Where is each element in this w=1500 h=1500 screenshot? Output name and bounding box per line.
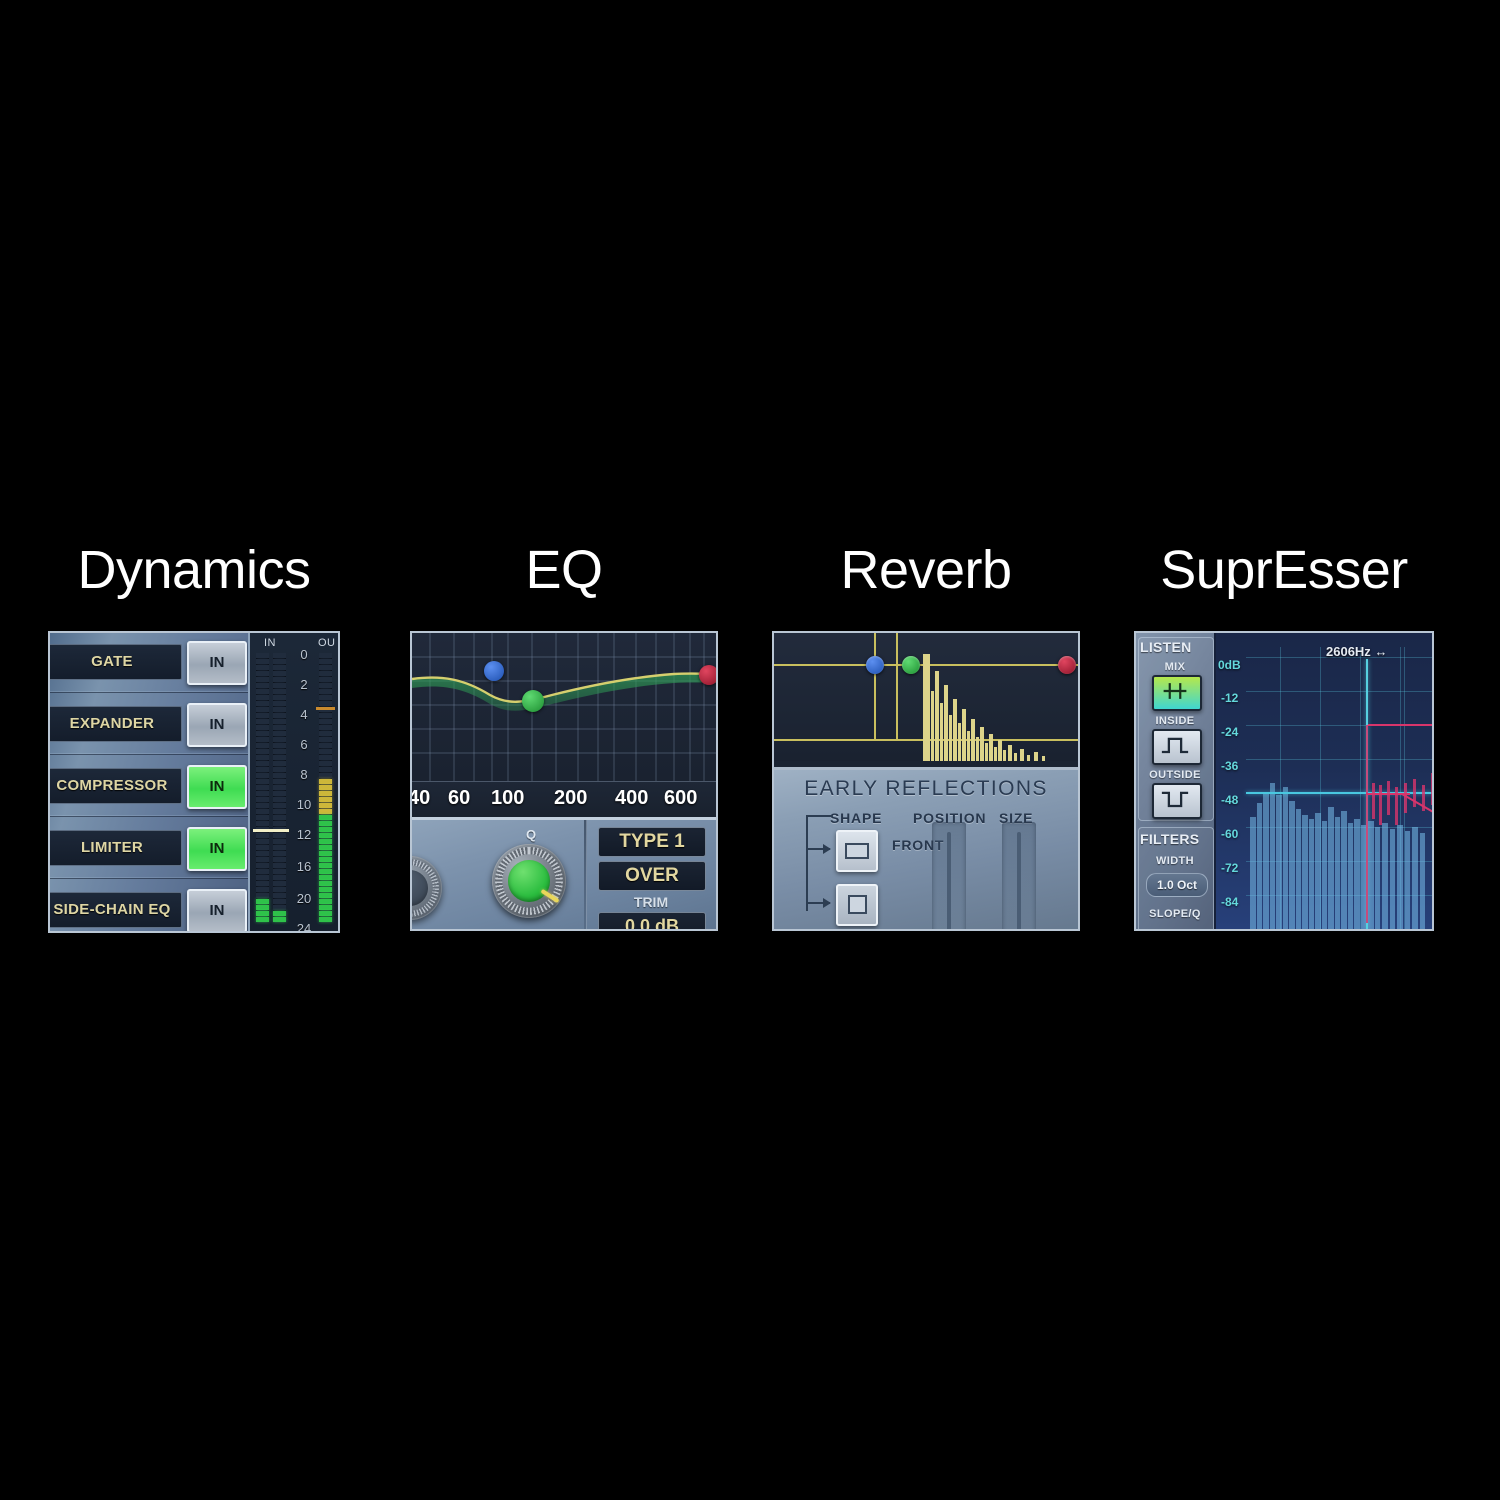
db-label-12: -12 <box>1221 691 1238 705</box>
meter-segment <box>256 701 269 706</box>
reverb-handle-red[interactable] <box>1058 656 1076 674</box>
left-right-arrow-icon: ↔ <box>1374 644 1387 659</box>
meter-segment <box>273 821 286 826</box>
spectrum-bar <box>1315 813 1321 929</box>
meter-segment <box>256 761 269 766</box>
meter-segment <box>319 791 332 796</box>
meter-segment <box>256 731 269 736</box>
meter-segment <box>256 779 269 784</box>
meter-segment <box>319 653 332 658</box>
size-slider[interactable] <box>1002 822 1036 931</box>
eq-curve-svg <box>412 633 718 781</box>
meter-segment <box>273 809 286 814</box>
plus-crosshair-icon <box>1154 677 1196 705</box>
meter-segment <box>256 917 269 922</box>
square-icon <box>848 895 867 914</box>
eq-type-readout[interactable]: TYPE 1 <box>598 827 706 857</box>
db-label-84: -84 <box>1221 895 1238 909</box>
meter-segment <box>273 665 286 670</box>
knob-cap <box>508 860 549 901</box>
meter-segment <box>319 815 332 820</box>
meter-in-right <box>273 653 286 921</box>
listen-option-label-inside: INSIDE <box>1136 715 1214 727</box>
impulse-bar <box>944 685 948 761</box>
spectrum-bar <box>1341 811 1347 929</box>
meter-segment <box>273 701 286 706</box>
listen-button-outside[interactable] <box>1152 783 1202 819</box>
eq-gain-knob-left[interactable] <box>410 856 442 920</box>
meter-segment <box>273 905 286 910</box>
panel-title-reverb: Reverb <box>772 535 1080 607</box>
supresser-thumbnail[interactable]: LISTEN MIX INSIDE <box>1134 631 1434 931</box>
reverb-surface: EARLY REFLECTIONS SHAPE POSITION SIZE <box>774 633 1078 929</box>
eq-band-handle-blue[interactable] <box>484 661 504 681</box>
meter-segment <box>273 785 286 790</box>
meter-segment <box>256 845 269 850</box>
meter-segment <box>319 803 332 808</box>
meter-segment <box>256 887 269 892</box>
dynamics-row-limiter[interactable]: LIMITER IN <box>50 815 256 879</box>
spectrum-bar <box>1348 823 1353 929</box>
meter-segment <box>319 875 332 880</box>
spectrum-bar <box>1405 831 1410 929</box>
spectrum-bar <box>1328 807 1334 929</box>
meter-segment <box>256 737 269 742</box>
spectrum-bar <box>1257 803 1262 929</box>
meter-segment <box>273 797 286 802</box>
meter-segment <box>273 749 286 754</box>
reverb-predelay-marker <box>874 633 876 741</box>
impulse-bar <box>923 654 930 761</box>
reverb-early-reflections-section: EARLY REFLECTIONS SHAPE POSITION SIZE <box>774 767 1078 929</box>
meter-segment <box>256 833 269 838</box>
reduction-curve-cursor <box>1366 725 1368 923</box>
meter-segment <box>273 779 286 784</box>
impulse-bar <box>935 671 939 761</box>
meter-segment <box>256 689 269 694</box>
meter-segment <box>256 797 269 802</box>
meter-segment <box>319 833 332 838</box>
panel-reverb: Reverb <box>772 535 1080 931</box>
impulse-bar <box>985 743 988 761</box>
impulse-bar <box>1008 745 1012 761</box>
meter-segment <box>256 713 269 718</box>
filters-group-label: FILTERS <box>1140 831 1218 847</box>
spectrum-bar <box>1270 783 1275 929</box>
meter-segment <box>256 749 269 754</box>
module-label-compressor: COMPRESSOR <box>48 768 182 804</box>
in-button-sidechain-eq[interactable]: IN <box>187 889 247 933</box>
meter-segment <box>273 767 286 772</box>
meter-segment <box>319 779 332 784</box>
meter-segment <box>273 815 286 820</box>
reverb-thumbnail[interactable]: EARLY REFLECTIONS SHAPE POSITION SIZE <box>772 631 1080 931</box>
meter-segment <box>256 659 269 664</box>
dynamics-row-gate[interactable]: GATE IN <box>50 631 256 693</box>
listen-group-label: LISTEN <box>1140 639 1218 655</box>
dynamics-meter-bridge: IN OU 0 2 4 6 8 10 12 16 20 24 <box>248 633 338 931</box>
spectrum-bar <box>1420 833 1425 929</box>
reduction-spike <box>1431 773 1432 805</box>
meter-segment <box>256 671 269 676</box>
meter-segment <box>256 791 269 796</box>
meter-segment <box>273 731 286 736</box>
meter-segment <box>256 683 269 688</box>
impulse-bar <box>1020 749 1024 761</box>
dynamics-thumbnail[interactable]: GATE IN EXPANDER IN COMPRESSOR IN L <box>48 631 340 933</box>
meter-segment <box>256 881 269 886</box>
meter-segment <box>273 743 286 748</box>
size-slider-handle[interactable] <box>1017 832 1021 931</box>
panel-supresser: SuprEsser LISTEN MIX <box>1134 535 1434 931</box>
eq-tick-200: 200 <box>554 787 587 810</box>
meter-header-in: IN <box>264 637 276 649</box>
meter-segment <box>273 653 286 658</box>
impulse-bar <box>971 719 975 761</box>
meter-segment <box>273 851 286 856</box>
reduction-spike <box>1422 785 1425 811</box>
meter-segment <box>273 917 286 922</box>
column-label-shape: SHAPE <box>830 810 882 826</box>
meter-segment <box>256 815 269 820</box>
spectrum-bar <box>1289 801 1295 929</box>
db-label-36: -36 <box>1221 759 1238 773</box>
meter-segment <box>319 821 332 826</box>
eq-trim-value[interactable]: 0.0 dB <box>598 912 706 931</box>
eq-q-knob[interactable] <box>492 844 566 918</box>
meter-segment <box>256 839 269 844</box>
meter-segment <box>319 797 332 802</box>
module-label-sidechain-eq: SIDE-CHAIN EQ <box>48 892 182 928</box>
meter-tick-20: 20 <box>292 891 316 906</box>
meter-segment <box>319 659 332 664</box>
spectrum-bar <box>1354 819 1360 929</box>
meter-segment <box>273 725 286 730</box>
meter-segment <box>273 677 286 682</box>
meter-scale: 0 2 4 6 8 10 12 16 20 24 <box>292 647 316 915</box>
impulse-bar <box>949 715 952 761</box>
meter-segment <box>319 839 332 844</box>
meter-segment <box>256 743 269 748</box>
supresser-surface: LISTEN MIX INSIDE <box>1136 633 1432 929</box>
eq-tick-100: 100 <box>491 787 524 810</box>
in-button-gate[interactable]: IN <box>187 641 247 685</box>
meter-segment <box>319 911 332 916</box>
spectrum-bar <box>1368 821 1374 929</box>
meter-segment <box>273 803 286 808</box>
reduction-spike <box>1387 781 1390 815</box>
meter-segment <box>256 719 269 724</box>
eq-band-handle-red[interactable] <box>699 665 718 685</box>
meter-segment <box>256 707 269 712</box>
wide-rectangle-icon <box>845 843 869 859</box>
eq-q-label: Q <box>526 827 536 842</box>
meter-segment <box>273 791 286 796</box>
meter-segment <box>319 899 332 904</box>
meter-segment <box>273 671 286 676</box>
db-label-48: -48 <box>1221 793 1238 807</box>
position-slider-handle[interactable] <box>947 832 951 931</box>
meter-segment <box>273 881 286 886</box>
dynamics-row-sidechain-eq[interactable]: SIDE-CHAIN EQ IN <box>50 877 256 933</box>
peak-hold-in-right <box>270 829 289 832</box>
meter-segment <box>319 905 332 910</box>
reverb-handle-blue[interactable] <box>866 656 884 674</box>
spectrum-bar <box>1382 823 1388 929</box>
plugin-showcase: Dynamics GATE IN EXPANDER IN COMPRE <box>0 535 1500 945</box>
db-label-24: -24 <box>1221 725 1238 739</box>
dynamics-module-list: GATE IN EXPANDER IN COMPRESSOR IN L <box>50 633 256 931</box>
impulse-bar <box>976 737 979 761</box>
meter-segment <box>256 677 269 682</box>
meter-segment <box>273 893 286 898</box>
meter-segment <box>273 887 286 892</box>
impulse-bar <box>931 691 934 761</box>
meter-tick-10: 10 <box>292 797 316 812</box>
eq-control-strip: Q <box>412 817 716 929</box>
meter-segment <box>319 743 332 748</box>
eq-tick-40: 40 <box>410 787 430 810</box>
meter-segment <box>273 737 286 742</box>
impulse-bar <box>989 734 993 761</box>
impulse-bar <box>940 703 943 761</box>
meter-segment <box>273 659 286 664</box>
meter-segment <box>319 701 332 706</box>
spectrum-bar <box>1309 819 1314 929</box>
screenshot-root: Dynamics GATE IN EXPANDER IN COMPRE <box>0 0 1500 1500</box>
spectrum-bar <box>1412 827 1418 929</box>
reduction-spike <box>1395 787 1398 825</box>
spectrum-bar <box>1276 795 1282 929</box>
in-button-limiter[interactable]: IN <box>187 827 247 871</box>
meter-segment <box>319 749 332 754</box>
reduction-spike <box>1372 783 1375 819</box>
meter-segment <box>273 875 286 880</box>
supresser-spectrum-graph[interactable]: 2606Hz ↔ 0dB -12 -24 -36 -48 -60 -72 -84 <box>1216 633 1432 929</box>
meter-segment <box>256 653 269 658</box>
spectrum-bar <box>1397 825 1403 929</box>
meter-segment <box>256 785 269 790</box>
in-button-expander[interactable]: IN <box>187 703 247 747</box>
db-label-60: -60 <box>1221 827 1238 841</box>
shape-button-wide[interactable] <box>836 830 878 872</box>
meter-segment <box>273 773 286 778</box>
reverb-impulse-graph[interactable] <box>774 633 1078 761</box>
panel-eq: EQ <box>410 535 718 931</box>
meter-segment <box>256 905 269 910</box>
shape-bracket <box>806 815 832 911</box>
meter-segment <box>319 827 332 832</box>
impulse-bar <box>1027 755 1030 761</box>
meter-segment <box>319 719 332 724</box>
impulse-bar <box>962 709 966 761</box>
eq-tick-600: 600 <box>664 787 697 810</box>
spectrum-bar <box>1263 793 1269 929</box>
meter-segment <box>273 899 286 904</box>
reverb-region-marker <box>896 633 898 741</box>
impulse-bar <box>1042 756 1045 761</box>
dynamics-row-compressor[interactable]: COMPRESSOR IN <box>50 753 256 817</box>
eq-band-handle-green[interactable] <box>522 690 544 712</box>
meter-segment <box>273 755 286 760</box>
meter-tick-4: 4 <box>292 707 316 722</box>
shape-button-active-indicator[interactable] <box>836 930 876 931</box>
db-label-72: -72 <box>1221 861 1238 875</box>
meter-header-out: OU <box>318 637 335 649</box>
meter-in-left <box>256 653 269 921</box>
meter-segment <box>319 851 332 856</box>
peak-hold-out <box>316 707 335 710</box>
impulse-bar <box>967 731 970 761</box>
meter-segment <box>256 821 269 826</box>
reverb-handle-green[interactable] <box>902 656 920 674</box>
meter-segment <box>256 755 269 760</box>
meter-segment <box>273 869 286 874</box>
meter-segment <box>319 863 332 868</box>
meter-segment <box>256 893 269 898</box>
spectrum-bar <box>1335 817 1340 929</box>
meter-segment <box>256 665 269 670</box>
eq-tick-60: 60 <box>448 787 470 810</box>
meter-segment <box>319 665 332 670</box>
eq-frequency-axis: 40 60 100 200 400 600 <box>412 781 716 818</box>
eq-response-graph[interactable] <box>412 633 716 781</box>
filters-width-label: WIDTH <box>1136 855 1214 867</box>
spectrum-bar <box>1322 821 1327 929</box>
meter-segment <box>319 725 332 730</box>
meter-segment <box>319 809 332 814</box>
dynamics-surface: GATE IN EXPANDER IN COMPRESSOR IN L <box>50 633 338 931</box>
reduction-spike <box>1379 785 1382 825</box>
meter-segment <box>273 833 286 838</box>
meter-segment <box>319 695 332 700</box>
frequency-readout-value: 2606Hz <box>1326 644 1371 659</box>
meter-segment <box>256 695 269 700</box>
meter-segment <box>319 893 332 898</box>
impulse-bar <box>958 723 961 761</box>
eq-trim-label: TRIM <box>598 894 704 910</box>
spectrum-bar <box>1283 787 1288 929</box>
reduction-curve-top <box>1368 724 1432 726</box>
meter-segment <box>256 899 269 904</box>
meter-segment <box>256 857 269 862</box>
spectrum-bar <box>1375 827 1380 929</box>
in-button-compressor[interactable]: IN <box>187 765 247 809</box>
meter-segment <box>273 683 286 688</box>
meter-tick-2: 2 <box>292 677 316 692</box>
meter-segment <box>319 845 332 850</box>
early-reflections-heading: EARLY REFLECTIONS <box>774 777 1078 801</box>
meter-segment <box>273 695 286 700</box>
meter-segment <box>319 755 332 760</box>
meter-segment <box>256 803 269 808</box>
meter-segment <box>256 725 269 730</box>
meter-segment <box>319 785 332 790</box>
module-label-expander: EXPANDER <box>48 706 182 742</box>
meter-tick-24: 24 <box>292 921 316 933</box>
meter-segment <box>256 851 269 856</box>
listen-option-label-outside: OUTSIDE <box>1136 769 1214 781</box>
meter-segment <box>256 863 269 868</box>
meter-segment <box>319 869 332 874</box>
meter-segment <box>256 875 269 880</box>
shape-button-square[interactable] <box>836 884 878 926</box>
meter-segment <box>319 767 332 772</box>
module-label-gate: GATE <box>48 644 182 680</box>
panel-title-supresser: SuprEsser <box>1134 535 1434 607</box>
filters-width-value[interactable]: 1.0 Oct <box>1146 873 1208 897</box>
bandpass-icon <box>1154 731 1196 759</box>
panel-dynamics: Dynamics GATE IN EXPANDER IN COMPRE <box>48 535 340 933</box>
meter-segment <box>273 845 286 850</box>
module-label-limiter: LIMITER <box>48 830 182 866</box>
meter-segment <box>273 911 286 916</box>
meter-segment <box>319 713 332 718</box>
meter-segment <box>319 731 332 736</box>
meter-segment <box>273 689 286 694</box>
meter-segment <box>319 887 332 892</box>
meter-segment <box>256 767 269 772</box>
shape-arrow-bottom <box>806 902 830 904</box>
eq-tick-400: 400 <box>615 787 648 810</box>
meter-segment <box>256 869 269 874</box>
meter-segment <box>319 737 332 742</box>
meter-segment <box>273 719 286 724</box>
eq-thumbnail[interactable]: 40 60 100 200 400 600 Q <box>410 631 718 931</box>
meter-segment <box>273 761 286 766</box>
listen-button-inside[interactable] <box>1152 729 1202 765</box>
meter-out <box>319 653 332 921</box>
spectrum-bar <box>1296 809 1301 929</box>
meter-segment <box>256 911 269 916</box>
meter-tick-12: 12 <box>292 827 316 842</box>
impulse-bar <box>994 747 997 761</box>
meter-segment <box>273 707 286 712</box>
meter-tick-16: 16 <box>292 859 316 874</box>
meter-segment <box>256 809 269 814</box>
db-label-0: 0dB <box>1218 658 1241 672</box>
impulse-bar <box>980 727 984 761</box>
listen-option-label-mix: MIX <box>1136 661 1214 673</box>
meter-tick-0: 0 <box>292 647 316 662</box>
meter-segment <box>319 917 332 922</box>
meter-segment <box>319 773 332 778</box>
meter-segment <box>319 671 332 676</box>
reduction-spike <box>1413 779 1416 807</box>
position-slider[interactable] <box>932 822 966 931</box>
dynamics-row-expander[interactable]: EXPANDER IN <box>50 691 256 755</box>
meter-segment <box>273 839 286 844</box>
meter-segment <box>273 857 286 862</box>
meter-segment <box>256 773 269 778</box>
panel-title-eq: EQ <box>410 535 718 607</box>
shape-arrow-top <box>806 848 830 850</box>
eq-slope-readout[interactable]: OVER <box>598 861 706 891</box>
meter-segment <box>273 863 286 868</box>
eq-surface: 40 60 100 200 400 600 Q <box>412 633 716 929</box>
impulse-bar <box>953 699 957 761</box>
supresser-sidebar: LISTEN MIX INSIDE <box>1136 633 1214 929</box>
spectrum-bar <box>1302 815 1308 929</box>
meter-tick-8: 8 <box>292 767 316 782</box>
spectrum-bar <box>1250 817 1256 929</box>
filters-slope-q-label: SLOPE/Q <box>1136 908 1214 920</box>
listen-button-mix[interactable] <box>1152 675 1202 711</box>
meter-segment <box>319 689 332 694</box>
meter-segment <box>319 761 332 766</box>
meter-segment <box>319 857 332 862</box>
frequency-readout[interactable]: 2606Hz ↔ <box>1326 644 1387 659</box>
